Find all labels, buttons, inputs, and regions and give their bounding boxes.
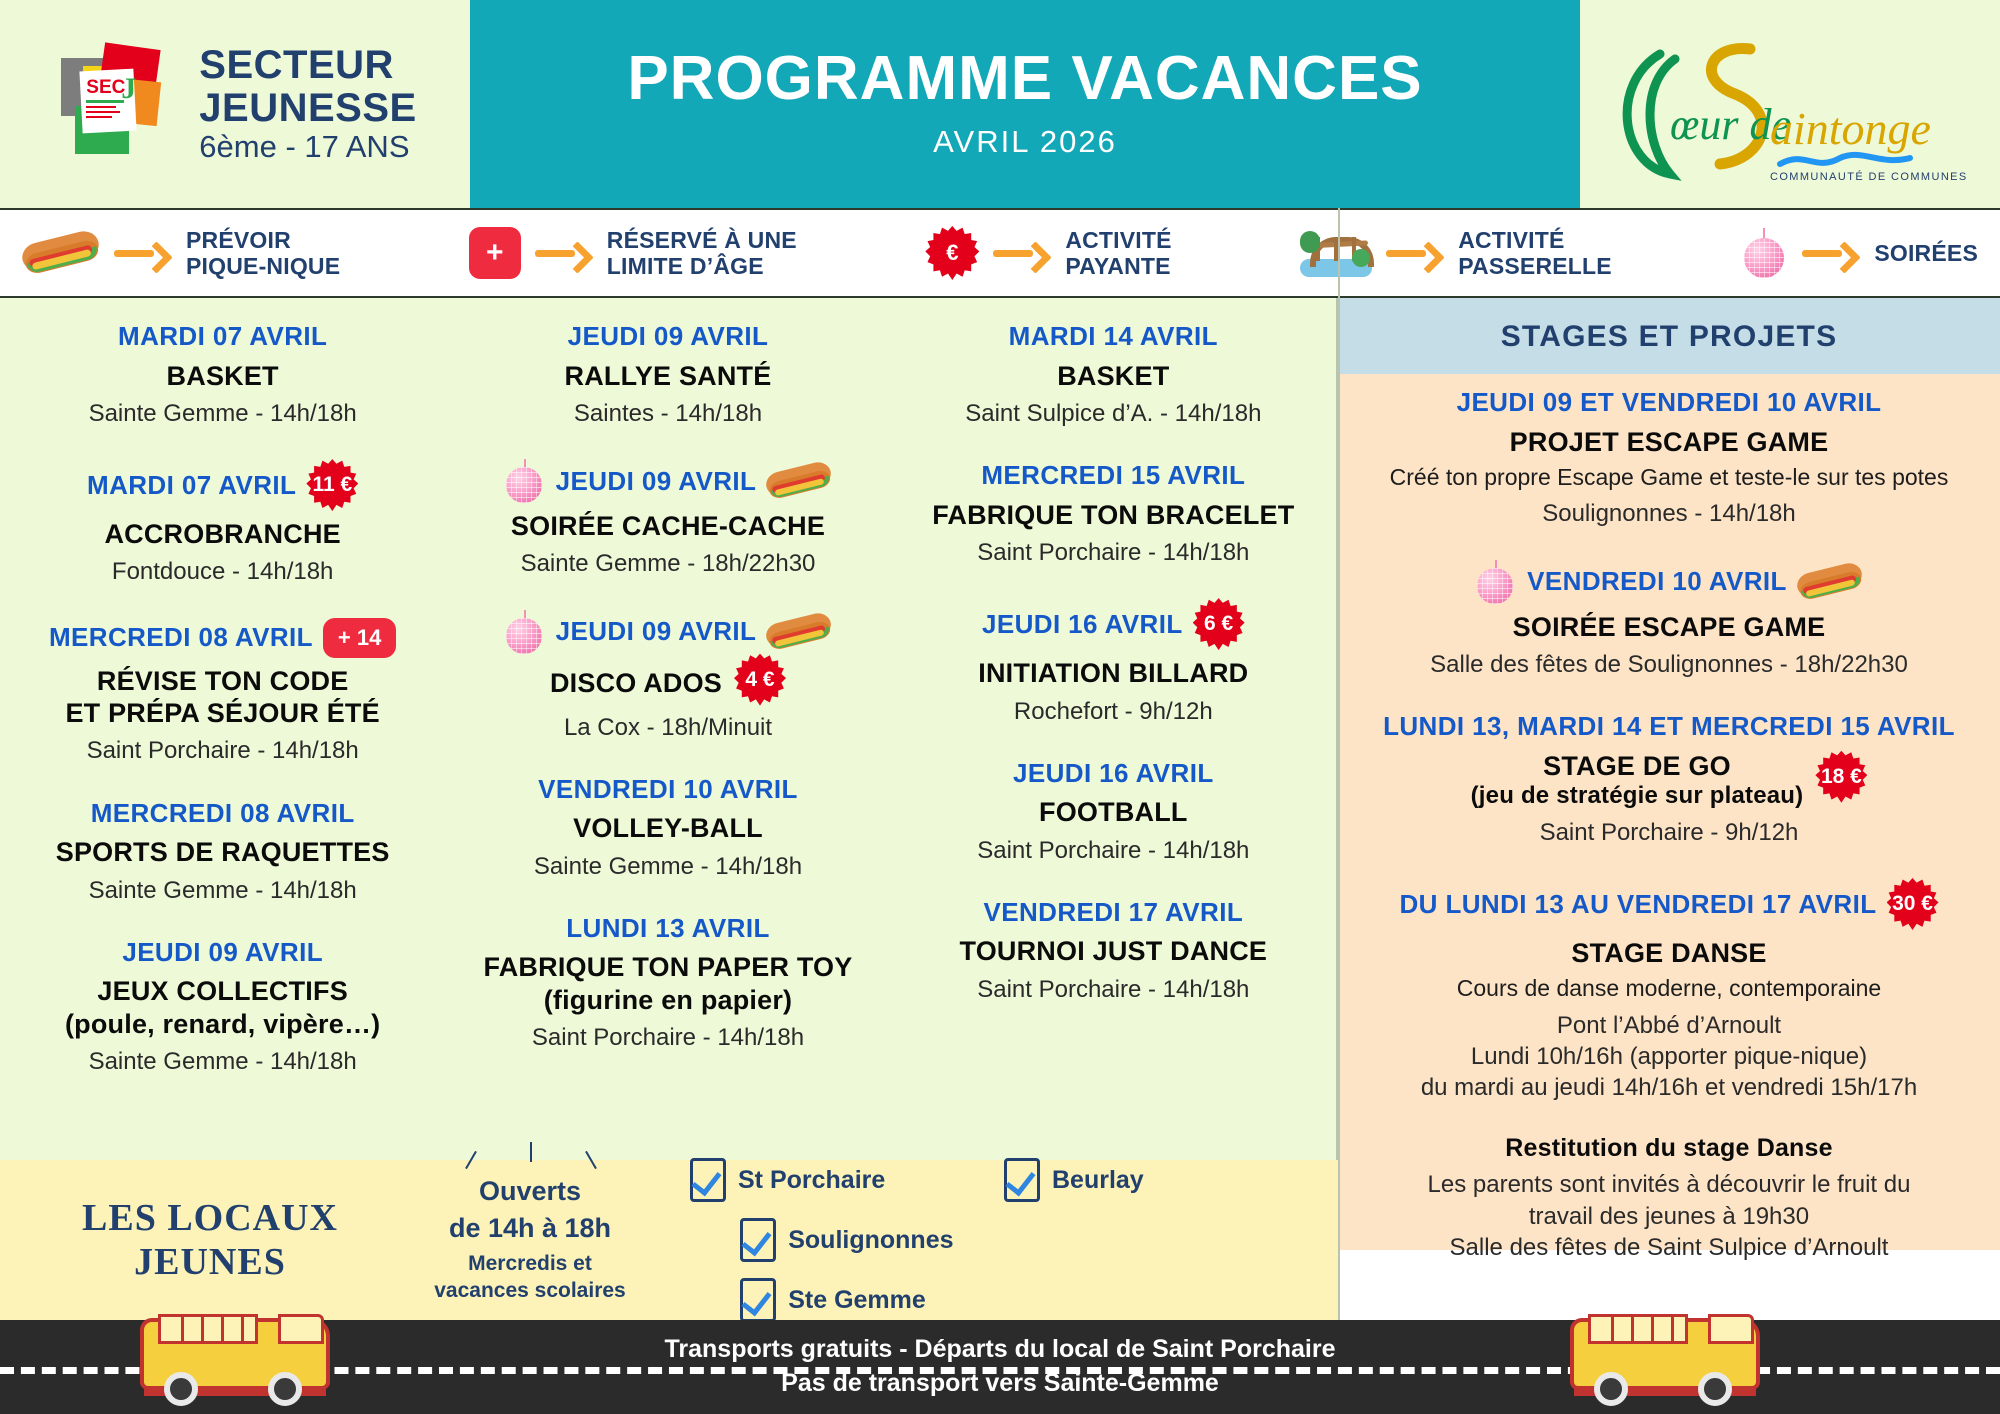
activity-name-row: TOURNOI JUST DANCE	[901, 928, 1326, 967]
activity-date: VENDREDI 10 AVRIL	[1527, 565, 1787, 598]
activity-name-row: INITIATION BILLARD	[901, 650, 1326, 689]
legend-item-paid: € ACTIVITÉ PAYANTE	[925, 226, 1171, 280]
activity-date: MERCREDI 08 AVRIL	[49, 621, 313, 654]
activity-date: DU LUNDI 13 AU VENDREDI 17 AVRIL	[1399, 888, 1876, 921]
activity-name-row: FOOTBALL	[901, 789, 1326, 828]
checkbox-checked-icon[interactable]	[740, 1218, 776, 1262]
sandwich-icon	[18, 224, 103, 282]
activity-name-row: BASKET	[901, 353, 1326, 392]
activity-name-row: RÉVISE TON CODEET PRÉPA SÉJOUR ÉTÉ	[10, 658, 435, 730]
secj-logo-icon: SEC J	[53, 44, 173, 164]
header-left-branding: SEC J SECTEUR JEUNESSE 6ème - 17 ANS	[0, 0, 470, 208]
activity-column-1: MARDI 07 AVRILBASKETSainte Gemme - 14h/1…	[0, 298, 445, 1250]
activity-name-row: SPORTS DE RAQUETTES	[10, 829, 435, 868]
poster-root: SEC J SECTEUR JEUNESSE 6ème - 17 ANS PRO…	[0, 0, 2000, 1414]
activity-item[interactable]: VENDREDI 10 AVRILSOIRÉE ESCAPE GAMESalle…	[1360, 560, 1978, 681]
activity-date-row: JEUDI 09 AVRIL	[455, 320, 880, 353]
activity-place: Saint Porchaire - 14h/18h	[901, 537, 1326, 568]
legend-item-age-limit: + RÉSERVÉ À UNE LIMITE D’ÂGE	[469, 227, 797, 279]
locaux-check-item[interactable]: St Porchaire	[690, 1158, 1004, 1202]
legend-passerelle-l1: ACTIVITÉ	[1458, 227, 1612, 253]
activity-date-row: VENDREDI 10 AVRIL	[1360, 560, 1978, 604]
activity-name: VOLLEY-BALL	[573, 812, 763, 844]
activity-name: FOOTBALL	[1039, 796, 1188, 828]
activity-date-row: JEUDI 16 AVRIL6 €	[901, 598, 1326, 650]
price-badge: 6 €	[1193, 598, 1245, 650]
activity-date: MERCREDI 15 AVRIL	[981, 459, 1245, 492]
school-bus-icon	[140, 1304, 330, 1408]
activity-date-row: VENDREDI 17 AVRIL	[901, 896, 1326, 929]
secj-title: SECTEUR JEUNESSE 6ème - 17 ANS	[199, 44, 416, 164]
arrow-right-icon	[535, 240, 593, 266]
activity-date-row: JEUDI 09 AVRIL	[455, 610, 880, 654]
page-title: PROGRAMME VACANCES	[627, 48, 1422, 110]
coeur-de-saintonge-logo: œur de aintonge COMMUNAUTÉ DE COMMUNES	[1600, 24, 1980, 184]
locaux-check-label: Soulignonnes	[788, 1226, 953, 1255]
activity-name: FABRIQUE TON PAPER TOY(figurine en papie…	[484, 951, 853, 1016]
secj-line3: 6ème - 17 ANS	[199, 131, 416, 164]
locaux-check-item[interactable]: Ste Gemme	[740, 1278, 1054, 1322]
locaux-check-label: Ste Gemme	[788, 1286, 926, 1315]
disco-ball-icon	[504, 459, 546, 503]
activity-date: JEUDI 16 AVRIL	[982, 608, 1183, 641]
price-badge: 4 €	[734, 654, 786, 706]
transport-bar: Transports gratuits - Départs du local d…	[0, 1320, 2000, 1414]
logo-subtitle: COMMUNAUTÉ DE COMMUNES	[1770, 170, 1968, 183]
legend-passerelle-l2: PASSERELLE	[1458, 253, 1612, 279]
activity-note: Cours de danse moderne, contemporaine	[1360, 974, 1978, 1003]
activity-name-row: DISCO ADOS4 €	[455, 654, 880, 706]
activity-date-row: JEUDI 09 AVRIL	[10, 936, 435, 969]
stages-list: JEUDI 09 ET VENDREDI 10 AVRILPROJET ESCA…	[1338, 374, 2000, 1293]
legend-bar: PRÉVOIR PIQUE-NIQUE + RÉSERVÉ À UNE LIMI…	[0, 208, 2000, 298]
stage-footer-title: Restitution du stage Danse	[1360, 1133, 1978, 1163]
activity-name: SOIRÉE CACHE-CACHE	[511, 510, 825, 542]
activity-name: DISCO ADOS	[550, 667, 722, 699]
activity-item[interactable]: JEUDI 09 AVRILDISCO ADOS4 €La Cox - 18h/…	[455, 610, 880, 743]
arrow-right-icon	[993, 240, 1051, 266]
legend-paid-l2: PAYANTE	[1065, 253, 1171, 279]
transport-line2: Pas de transport vers Sainte-Gemme	[781, 1367, 1219, 1401]
activity-date: VENDREDI 10 AVRIL	[538, 773, 798, 806]
activity-name-row: ACCROBRANCHE	[10, 511, 435, 550]
activity-date-row: MERCREDI 15 AVRIL	[901, 459, 1326, 492]
activity-item[interactable]: MARDI 07 AVRIL11 €ACCROBRANCHEFontdouce …	[10, 459, 435, 588]
legend-soirees-l1: SOIRÉES	[1874, 240, 1978, 266]
activity-place: Pont l’Abbé d’ArnoultLundi 10h/16h (appo…	[1360, 1010, 1978, 1104]
activity-name-row: SOIRÉE ESCAPE GAME	[1360, 604, 1978, 643]
locaux-hours: Ouverts de 14h à 18h Mercredis etvacance…	[400, 1176, 660, 1305]
activity-date: MARDI 14 AVRIL	[1009, 320, 1218, 353]
disco-ball-icon	[504, 610, 546, 654]
svg-text:aintonge: aintonge	[1770, 103, 1931, 154]
activity-place: Soulignonnes - 14h/18h	[1360, 498, 1978, 529]
locaux-check-item[interactable]: Soulignonnes	[740, 1218, 1054, 1262]
price-badge: 30 €	[1887, 878, 1939, 930]
activity-place: Saint Porchaire - 14h/18h	[901, 974, 1326, 1005]
activity-name: RALLYE SANTÉ	[565, 360, 772, 392]
activity-name-row: STAGE DE GO(jeu de stratégie sur plateau…	[1360, 743, 1978, 811]
activity-date: JEUDI 09 AVRIL	[556, 465, 757, 498]
activity-date-row: MARDI 07 AVRIL11 €	[10, 459, 435, 511]
rays-decoration	[430, 1142, 630, 1176]
activity-date: MARDI 07 AVRIL	[87, 469, 296, 502]
activity-place: Fontdouce - 14h/18h	[10, 556, 435, 587]
activity-date-row: LUNDI 13 AVRIL	[455, 912, 880, 945]
activity-date-row: MERCREDI 08 AVRIL+ 14	[10, 618, 435, 658]
poster-header: SEC J SECTEUR JEUNESSE 6ème - 17 ANS PRO…	[0, 0, 2000, 208]
activity-place: Saint Porchaire - 14h/18h	[455, 1022, 880, 1053]
activity-place: Saint Porchaire - 14h/18h	[901, 835, 1326, 866]
activity-item[interactable]: LUNDI 13, MARDI 14 ET MERCREDI 15 AVRILS…	[1360, 710, 1978, 848]
legend-item-passerelle: ACTIVITÉ PASSERELLE	[1300, 227, 1612, 279]
locaux-check-item[interactable]: Beurlay	[1004, 1158, 1318, 1202]
disco-ball-icon	[1475, 560, 1517, 604]
activity-name-row: PROJET ESCAPE GAME	[1360, 419, 1978, 458]
activity-name: TOURNOI JUST DANCE	[960, 935, 1268, 967]
activity-place: Sainte Gemme - 14h/18h	[10, 875, 435, 906]
stages-heading: STAGES ET PROJETS	[1338, 298, 2000, 374]
activity-place: Salle des fêtes de Soulignonnes - 18h/22…	[1360, 649, 1978, 680]
activity-name-row: FABRIQUE TON PAPER TOY(figurine en papie…	[455, 944, 880, 1016]
poster-body: MARDI 07 AVRILBASKETSainte Gemme - 14h/1…	[0, 298, 2000, 1250]
activity-place: Rochefort - 9h/12h	[901, 696, 1326, 727]
legend-label-passerelle: ACTIVITÉ PASSERELLE	[1458, 227, 1612, 279]
locaux-check-label: Beurlay	[1052, 1166, 1144, 1195]
activities-columns: MARDI 07 AVRILBASKETSainte Gemme - 14h/1…	[0, 298, 1338, 1250]
activity-item[interactable]: JEUDI 09 AVRILSOIRÉE CACHE-CACHESainte G…	[455, 459, 880, 580]
legend-label-paid: ACTIVITÉ PAYANTE	[1065, 227, 1171, 279]
activity-place: Saint Sulpice d’A. - 14h/18h	[901, 398, 1326, 429]
activity-name-row: STAGE DANSE	[1360, 930, 1978, 969]
activity-place: Saintes - 14h/18h	[455, 398, 880, 429]
arrow-right-icon	[1802, 240, 1860, 266]
legend-age-l2: LIMITE D’ÂGE	[607, 253, 797, 279]
column-divider	[1338, 208, 1340, 1320]
activity-item[interactable]: VENDREDI 10 AVRILVOLLEY-BALLSainte Gemme…	[455, 773, 880, 882]
activity-name: ACCROBRANCHE	[104, 518, 340, 550]
sandwich-icon	[763, 457, 835, 506]
arrow-right-icon	[1386, 240, 1444, 266]
activity-date: LUNDI 13, MARDI 14 ET MERCREDI 15 AVRIL	[1383, 710, 1955, 743]
school-bus-icon	[1570, 1304, 1760, 1408]
activity-column-2: JEUDI 09 AVRILRALLYE SANTÉSaintes - 14h/…	[445, 298, 890, 1250]
locaux-hours-l3: Mercredis etvacances scolaires	[400, 1250, 660, 1305]
activity-item[interactable]: JEUDI 09 AVRILRALLYE SANTÉSaintes - 14h/…	[455, 320, 880, 429]
activity-place: Sainte Gemme - 14h/18h	[10, 1046, 435, 1077]
red-plus-icon: +	[469, 227, 521, 279]
activity-date-row: VENDREDI 10 AVRIL	[455, 773, 880, 806]
bridge-icon	[1300, 229, 1372, 277]
activity-place: Saint Porchaire - 9h/12h	[1360, 817, 1978, 848]
activity-date: MERCREDI 08 AVRIL	[91, 797, 355, 830]
age-badge: + 14	[323, 618, 396, 658]
activity-date: JEUDI 09 AVRIL	[556, 615, 757, 648]
activity-place: La Cox - 18h/Minuit	[455, 712, 880, 743]
activity-name-row: FABRIQUE TON BRACELET	[901, 492, 1326, 531]
activity-date-row: DU LUNDI 13 AU VENDREDI 17 AVRIL30 €	[1360, 878, 1978, 930]
sandwich-icon	[763, 607, 835, 656]
activity-date-row: JEUDI 16 AVRIL	[901, 757, 1326, 790]
stage-footer-body: Les parents sont invités à découvrir le …	[1360, 1169, 1978, 1263]
activity-item[interactable]: MERCREDI 15 AVRILFABRIQUE TON BRACELETSa…	[901, 459, 1326, 568]
activity-date-row: JEUDI 09 AVRIL	[455, 459, 880, 503]
legend-label-age: RÉSERVÉ À UNE LIMITE D’ÂGE	[607, 227, 797, 279]
activity-date: JEUDI 09 AVRIL	[568, 320, 769, 353]
legend-item-soirees: SOIRÉES	[1740, 228, 1978, 278]
activity-date-row: MARDI 07 AVRIL	[10, 320, 435, 353]
activity-date-row: JEUDI 09 ET VENDREDI 10 AVRIL	[1360, 386, 1978, 419]
checkbox-checked-icon[interactable]	[690, 1158, 726, 1202]
activity-name: RÉVISE TON CODEET PRÉPA SÉJOUR ÉTÉ	[65, 665, 379, 730]
activity-date: VENDREDI 17 AVRIL	[984, 896, 1244, 929]
price-badge: 11 €	[306, 459, 358, 511]
activity-date: LUNDI 13 AVRIL	[566, 912, 770, 945]
activity-item[interactable]: LUNDI 13 AVRILFABRIQUE TON PAPER TOY(fig…	[455, 912, 880, 1053]
activity-name-row: JEUX COLLECTIFS(poule, renard, vipère…)	[10, 968, 435, 1040]
coeur-de-saintonge-logo-svg: œur de aintonge COMMUNAUTÉ DE COMMUNES	[1600, 24, 1980, 184]
activity-name-row: RALLYE SANTÉ	[455, 353, 880, 392]
activity-item[interactable]: JEUDI 09 ET VENDREDI 10 AVRILPROJET ESCA…	[1360, 386, 1978, 530]
activity-place: Sainte Gemme - 14h/18h	[455, 851, 880, 882]
disco-ball-icon	[1740, 228, 1788, 278]
checkbox-checked-icon[interactable]	[740, 1278, 776, 1322]
legend-picnic-l1: PRÉVOIR	[186, 227, 340, 253]
activity-item[interactable]: VENDREDI 17 AVRILTOURNOI JUST DANCESaint…	[901, 896, 1326, 1005]
locaux-hours-l2: de 14h à 18h	[400, 1213, 660, 1244]
activity-item[interactable]: JEUDI 09 AVRILJEUX COLLECTIFS(poule, ren…	[10, 936, 435, 1077]
locaux-hours-l1: Ouverts	[400, 1176, 660, 1207]
locaux-title: Les locaux jeunes	[20, 1196, 400, 1284]
activity-column-3: MARDI 14 AVRILBASKETSaint Sulpice d’A. -…	[891, 298, 1336, 1250]
activity-item[interactable]: MERCREDI 08 AVRIL+ 14RÉVISE TON CODEET P…	[10, 618, 435, 767]
stages-panel: STAGES ET PROJETS JEUDI 09 ET VENDREDI 1…	[1338, 298, 2000, 1250]
activity-item[interactable]: DU LUNDI 13 AU VENDREDI 17 AVRIL30 €STAG…	[1360, 878, 1978, 1103]
price-badge: 18 €	[1815, 751, 1867, 803]
activity-name: STAGE DE GO(jeu de stratégie sur plateau…	[1471, 750, 1804, 811]
activity-place: Sainte Gemme - 14h/18h	[10, 398, 435, 429]
activity-item[interactable]: MARDI 07 AVRILBASKETSainte Gemme - 14h/1…	[10, 320, 435, 429]
activity-date-row: MARDI 14 AVRIL	[901, 320, 1326, 353]
activity-name: JEUX COLLECTIFS(poule, renard, vipère…)	[65, 975, 380, 1040]
activity-date: JEUDI 09 ET VENDREDI 10 AVRIL	[1457, 386, 1882, 419]
activity-name: BASKET	[167, 360, 279, 392]
activity-note: Créé ton propre Escape Game et teste-le …	[1360, 463, 1978, 492]
activity-name: STAGE DANSE	[1571, 937, 1766, 969]
activity-item[interactable]: MARDI 14 AVRILBASKETSaint Sulpice d’A. -…	[901, 320, 1326, 429]
stage-footer: Restitution du stage Danse Les parents s…	[1360, 1133, 1978, 1263]
legend-picnic-l2: PIQUE-NIQUE	[186, 253, 340, 279]
secj-line1: SECTEUR	[199, 44, 416, 86]
activity-date-row: MERCREDI 08 AVRIL	[10, 797, 435, 830]
checkbox-checked-icon[interactable]	[1004, 1158, 1040, 1202]
activity-name-row: VOLLEY-BALL	[455, 805, 880, 844]
activity-date: JEUDI 09 AVRIL	[122, 936, 323, 969]
page-subtitle: AVRIL 2026	[933, 124, 1117, 160]
activity-date: JEUDI 16 AVRIL	[1013, 757, 1214, 790]
legend-paid-l1: ACTIVITÉ	[1065, 227, 1171, 253]
activity-name: SPORTS DE RAQUETTES	[56, 836, 390, 868]
locaux-jeunes-panel: Les locaux jeunes Ouverts de 14h à 18h M…	[0, 1160, 1338, 1320]
secj-line2: JEUNESSE	[199, 87, 416, 129]
activity-name: INITIATION BILLARD	[978, 657, 1248, 689]
activity-item[interactable]: MERCREDI 08 AVRILSPORTS DE RAQUETTESSain…	[10, 797, 435, 906]
locaux-checklist: St Porchaire Beurlay Soulignonnes Ste Ge…	[660, 1150, 1318, 1330]
activity-name: SOIRÉE ESCAPE GAME	[1513, 611, 1826, 643]
activity-item[interactable]: JEUDI 16 AVRIL6 €INITIATION BILLARDRoche…	[901, 598, 1326, 727]
header-right-branding: œur de aintonge COMMUNAUTÉ DE COMMUNES	[1580, 0, 2000, 208]
legend-label-picnic: PRÉVOIR PIQUE-NIQUE	[186, 227, 340, 279]
activity-name: PROJET ESCAPE GAME	[1510, 426, 1829, 458]
legend-age-l1: RÉSERVÉ À UNE	[607, 227, 797, 253]
activity-name: FABRIQUE TON BRACELET	[932, 499, 1294, 531]
header-title-block: PROGRAMME VACANCES AVRIL 2026	[470, 0, 1580, 208]
activity-name: BASKET	[1057, 360, 1169, 392]
euro-star-icon: €	[925, 226, 979, 280]
arrow-right-icon	[114, 240, 172, 266]
activity-item[interactable]: JEUDI 16 AVRILFOOTBALLSaint Porchaire - …	[901, 757, 1326, 866]
activity-place: Sainte Gemme - 18h/22h30	[455, 548, 880, 579]
activity-date-row: LUNDI 13, MARDI 14 ET MERCREDI 15 AVRIL	[1360, 710, 1978, 743]
legend-item-picnic: PRÉVOIR PIQUE-NIQUE	[22, 227, 340, 279]
activity-name-row: BASKET	[10, 353, 435, 392]
activity-place: Saint Porchaire - 14h/18h	[10, 735, 435, 766]
locaux-check-label: St Porchaire	[738, 1166, 885, 1195]
activity-name-row: SOIRÉE CACHE-CACHE	[455, 503, 880, 542]
transport-line1: Transports gratuits - Départs du local d…	[665, 1333, 1336, 1367]
activity-date: MARDI 07 AVRIL	[118, 320, 327, 353]
legend-label-soirees: SOIRÉES	[1874, 240, 1978, 266]
sandwich-icon	[1794, 557, 1866, 606]
